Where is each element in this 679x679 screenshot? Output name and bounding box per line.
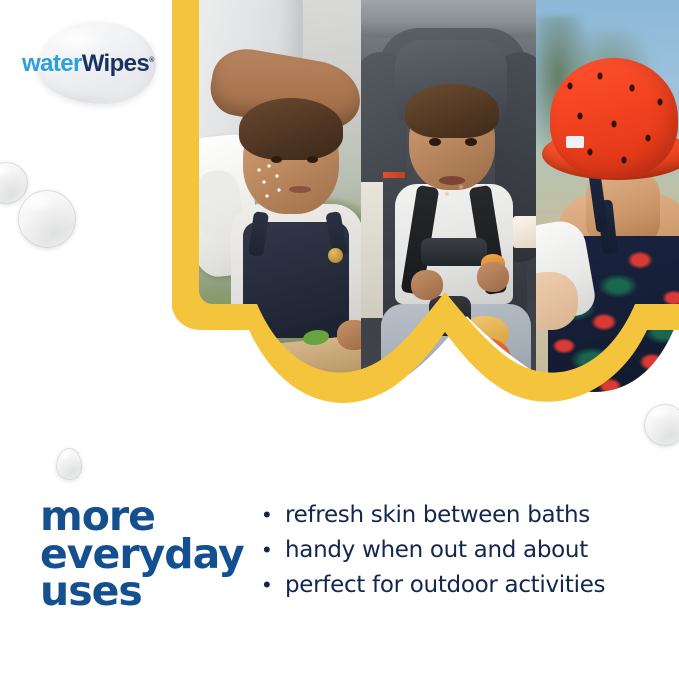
seat-tag	[383, 172, 405, 178]
list-item: • handy when out and about	[263, 537, 663, 564]
waterwipes-product-banner: waterWipes® more everyday uses • refresh…	[0, 0, 679, 679]
harness-chest-clip	[421, 238, 487, 266]
list-item: • refresh skin between baths	[263, 502, 663, 529]
photo-panel-car-seat	[361, 0, 536, 418]
orange-toy	[439, 338, 511, 400]
waterwipes-logo[interactable]: waterWipes®	[8, 14, 170, 112]
benefits-list: • refresh skin between baths • handy whe…	[263, 502, 663, 607]
teal-toy	[501, 368, 536, 404]
toddler-hair	[405, 84, 499, 138]
bullet-dot-icon: •	[263, 539, 285, 561]
toddler-hand-left	[411, 270, 443, 300]
toddler-mouth	[289, 186, 311, 193]
toddler-hair	[239, 98, 343, 160]
photo-row	[185, 0, 679, 418]
list-item-label: refresh skin between baths	[285, 502, 590, 529]
toddler-eye-left	[429, 138, 441, 146]
logo-trademark: ®	[149, 57, 154, 64]
logo-wordmark: waterWipes®	[22, 52, 154, 76]
toddler-hand-right	[477, 262, 509, 292]
door-panel-strip	[361, 182, 383, 318]
list-item: • perfect for outdoor activities	[263, 572, 663, 599]
photo-panel-outdoor-hat	[536, 0, 679, 418]
logo-water-text: water	[22, 50, 82, 77]
bottom-copy-section: more everyday uses • refresh skin betwee…	[0, 470, 679, 679]
photo-strip-frame	[185, 0, 679, 418]
seat-label	[513, 216, 536, 248]
toddler-eye-right	[307, 156, 318, 163]
hat-seed-print	[556, 68, 676, 172]
logo-wipes-text: Wipes	[82, 50, 149, 77]
harness-crotch-buckle	[429, 296, 471, 336]
photo-strip-clip	[185, 0, 679, 418]
bullet-dot-icon: •	[263, 504, 285, 526]
heading-line-3: uses	[40, 573, 255, 611]
photo-panel-wiping-face	[185, 0, 361, 418]
droplet-right-icon	[644, 404, 679, 446]
bullet-dot-icon: •	[263, 574, 285, 596]
toddler-hand	[337, 320, 361, 350]
list-item-label: handy when out and about	[285, 537, 588, 564]
face-crumbs	[255, 164, 291, 204]
overall-buckle	[328, 248, 343, 263]
list-item-label: perfect for outdoor activities	[285, 572, 605, 599]
page-title: more everyday uses	[40, 498, 255, 611]
hat-brand-tag	[566, 136, 584, 148]
droplet-large-left-icon	[18, 190, 76, 248]
toddler-eye-left	[271, 156, 282, 163]
toddler-eye-right	[465, 138, 477, 146]
